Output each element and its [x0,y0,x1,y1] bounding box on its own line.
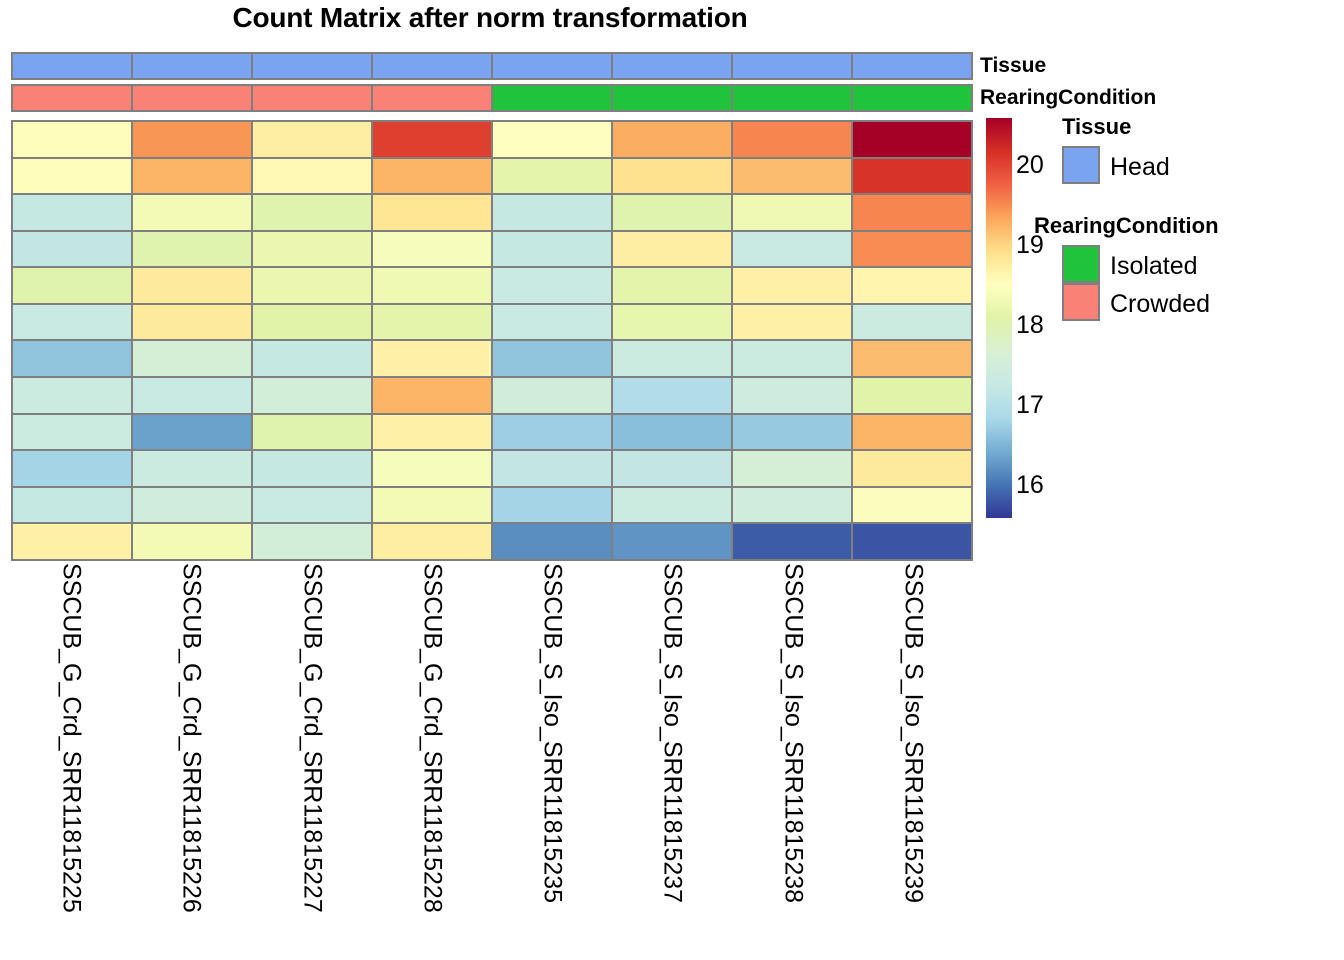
rearing-condition-legend-swatch-isolated [1062,245,1100,283]
heatmap-cell [133,415,253,450]
heatmap-cell [253,488,373,523]
heatmap-cell [733,488,853,523]
rearing-condition-annotation-bar-label: RearingCondition [980,87,1156,108]
heatmap-cell [253,159,373,194]
heatmap-cell [493,305,613,340]
heatmap-cell [13,451,133,486]
heatmap-cell [493,378,613,413]
heatmap-cell [253,451,373,486]
heatmap-cell [373,415,493,450]
heatmap-cell [253,232,373,267]
heatmap-cell [613,159,733,194]
heatmap-cell [13,232,133,267]
heatmap-cell [613,378,733,413]
heatmap-row [13,195,971,232]
heatmap-cell [493,488,613,523]
heatmap-cell [853,232,971,267]
heatmap-cell [733,415,853,450]
heatmap-cell [853,159,971,194]
heatmap-cell [133,488,253,523]
column-label: SSCUB_S_Iso_SRR11815235 [540,563,565,903]
heatmap-row [13,524,971,559]
heatmap-cell [613,122,733,157]
heatmap-row [13,159,971,196]
heatmap-row [13,415,971,452]
heatmap-cell [853,305,971,340]
heatmap-row [13,378,971,415]
heatmap-cell [493,451,613,486]
heatmap-cell [853,524,971,559]
heatmap-cell [253,378,373,413]
heatmap-cell [853,415,971,450]
heatmap-cell [133,268,253,303]
column-axis-labels: SSCUB_G_Crd_SRR11815225SSCUB_G_Crd_SRR11… [11,563,973,953]
heatmap-cell [853,268,971,303]
heatmap-cell [493,232,613,267]
heatmap-cell [373,378,493,413]
heatmap-cell [13,195,133,230]
page-title: Count Matrix after norm transformation [0,2,980,34]
heatmap-cell [133,159,253,194]
colorbar-tick-label: 16 [1016,473,1044,498]
heatmap-cell [733,451,853,486]
heatmap-cell [253,195,373,230]
heatmap-cell [733,524,853,559]
heatmap-row [13,268,971,305]
rearing-condition-annotation-cell [253,86,373,110]
heatmap-cell [613,451,733,486]
tissue-annotation-bar-label: Tissue [980,55,1046,76]
rearing-condition-legend-swatch-crowded [1062,283,1100,321]
colorbar-tick-label: 17 [1016,393,1044,418]
column-label: SSCUB_S_Iso_SRR11815237 [660,563,685,903]
heatmap-cell [373,122,493,157]
heatmap-cell [133,195,253,230]
rearing-condition-annotation-bar [11,84,973,112]
heatmap-cell [853,488,971,523]
tissue-annotation-cell [613,54,733,78]
column-label-slot: SSCUB_G_Crd_SRR11815228 [372,563,492,953]
heatmap-cell [253,415,373,450]
heatmap-cell [133,524,253,559]
heatmap-cell [613,305,733,340]
heatmap-cell [853,122,971,157]
rearing-condition-legend-label-crowded: Crowded [1110,292,1210,317]
colorbar-tick-label: 19 [1016,233,1044,258]
rearing-condition-annotation-cell [373,86,493,110]
heatmap-row [13,232,971,269]
heatmap-cell [253,305,373,340]
tissue-legend-swatch-head [1062,146,1100,184]
heatmap-cell [493,341,613,376]
column-label: SSCUB_G_Crd_SRR11815225 [59,563,84,913]
rearing-condition-annotation-cell [13,86,133,110]
rearing-condition-annotation-cell [853,86,971,110]
tissue-annotation-bar [11,52,973,80]
heatmap-cell [733,122,853,157]
heatmap-cell [13,341,133,376]
heatmap-cell [853,341,971,376]
heatmap-row [13,451,971,488]
heatmap-row [13,305,971,342]
heatmap-cell [853,195,971,230]
tissue-legend-label-head: Head [1110,155,1170,180]
heatmap-grid [11,120,973,561]
heatmap-cell [733,232,853,267]
heatmap-cell [613,524,733,559]
heatmap-cell [733,159,853,194]
heatmap-cell [373,305,493,340]
heatmap-cell [613,268,733,303]
column-label: SSCUB_S_Iso_SRR11815238 [780,563,805,903]
tissue-annotation-cell [733,54,853,78]
heatmap-cell [613,488,733,523]
heatmap-cell [13,378,133,413]
column-label: SSCUB_G_Crd_SRR11815227 [299,563,324,913]
rearing-condition-legend-title: RearingCondition [1034,215,1219,237]
heatmap-cell [13,122,133,157]
heatmap-cell [493,524,613,559]
heatmap-cell [733,305,853,340]
column-label-slot: SSCUB_G_Crd_SRR11815227 [252,563,372,953]
heatmap-cell [133,378,253,413]
column-label-slot: SSCUB_S_Iso_SRR11815239 [853,563,973,953]
heatmap-cell [493,122,613,157]
heatmap-cell [373,488,493,523]
heatmap-cell [493,195,613,230]
heatmap-cell [133,341,253,376]
tissue-annotation-cell [253,54,373,78]
tissue-annotation-cell [133,54,253,78]
heatmap-figure: Count Matrix after norm transformation T… [0,0,1344,960]
heatmap-cell [253,341,373,376]
rearing-condition-annotation-cell [133,86,253,110]
column-label-slot: SSCUB_S_Iso_SRR11815237 [612,563,732,953]
column-label-slot: SSCUB_S_Iso_SRR11815238 [733,563,853,953]
heatmap-cell [133,232,253,267]
colorbar-tick-label: 20 [1016,153,1044,178]
heatmap-cell [373,524,493,559]
heatmap-cell [373,159,493,194]
heatmap-row [13,488,971,525]
heatmap-cell [13,305,133,340]
heatmap-cell [373,195,493,230]
heatmap-cell [733,378,853,413]
rearing-condition-legend-label-isolated: Isolated [1110,254,1198,279]
heatmap-cell [13,268,133,303]
heatmap-cell [733,268,853,303]
colorbar-tick-label: 18 [1016,313,1044,338]
heatmap-cell [373,341,493,376]
heatmap-row [13,341,971,378]
heatmap-cell [493,159,613,194]
heatmap-cell [133,305,253,340]
rearing-condition-annotation-cell [613,86,733,110]
column-label-slot: SSCUB_S_Iso_SRR11815235 [492,563,612,953]
tissue-annotation-cell [493,54,613,78]
tissue-annotation-cell [13,54,133,78]
heatmap-cell [133,451,253,486]
heatmap-cell [493,268,613,303]
heatmap-row [13,122,971,159]
colorbar-gradient [986,118,1012,518]
heatmap-cell [373,232,493,267]
heatmap-cell [733,341,853,376]
rearing-condition-annotation-cell [493,86,613,110]
column-label: SSCUB_S_Iso_SRR11815239 [900,563,925,903]
heatmap-cell [613,341,733,376]
heatmap-cell [373,268,493,303]
heatmap-cell [373,451,493,486]
tissue-legend-title: Tissue [1062,116,1131,138]
heatmap-cell [253,122,373,157]
heatmap-cell [133,122,253,157]
heatmap-cell [13,159,133,194]
column-label-slot: SSCUB_G_Crd_SRR11815225 [11,563,131,953]
heatmap-cell [13,524,133,559]
column-label-slot: SSCUB_G_Crd_SRR11815226 [131,563,251,953]
heatmap-cell [853,451,971,486]
heatmap-cell [253,524,373,559]
heatmap-cell [13,415,133,450]
heatmap-cell [853,378,971,413]
rearing-condition-annotation-cell [733,86,853,110]
heatmap-cell [613,195,733,230]
heatmap-cell [253,268,373,303]
heatmap-cell [613,232,733,267]
tissue-annotation-cell [853,54,971,78]
column-label: SSCUB_G_Crd_SRR11815226 [179,563,204,913]
colorbar [986,118,1012,518]
heatmap-cell [733,195,853,230]
heatmap-cell [493,415,613,450]
column-label: SSCUB_G_Crd_SRR11815228 [419,563,444,913]
tissue-annotation-cell [373,54,493,78]
heatmap-cell [613,415,733,450]
heatmap-cell [13,488,133,523]
